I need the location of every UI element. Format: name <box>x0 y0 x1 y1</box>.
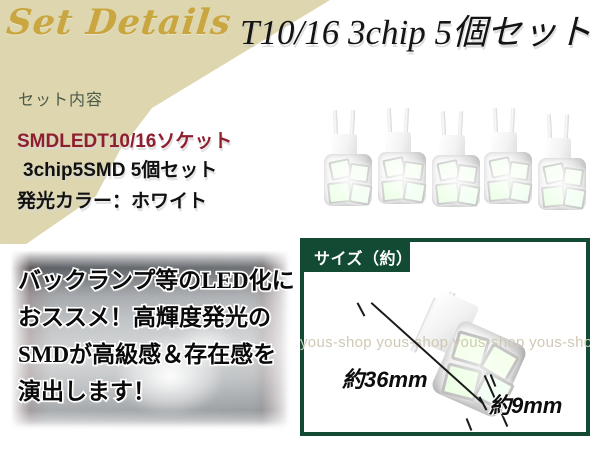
dimension-arrow-length <box>358 300 488 412</box>
smd-chip <box>508 161 530 182</box>
led-bulb <box>376 108 428 212</box>
smd-chip <box>456 164 478 185</box>
led-bulb <box>430 111 482 215</box>
size-box-label-tab: サイズ（約） <box>304 242 410 272</box>
promo-line: 演出します！ <box>18 373 290 410</box>
page-title: T10/16 3chip 5個セット <box>240 4 592 55</box>
product-detail-image: Set Details T10/16 3chip 5個セット セット内容 SMD… <box>0 0 600 450</box>
spec-color-line: 発光カラー：ホワイト <box>17 186 207 213</box>
spec-set-line: 3chip5SMD 5個セット <box>23 155 217 182</box>
set-details-script-logo: Set Details <box>3 2 248 54</box>
smd-chip <box>348 182 372 205</box>
smd-chip <box>508 180 532 203</box>
spec-heading: セット内容 <box>18 86 103 110</box>
promo-text-block: バックランプ等のLED化に おススメ！高輝度発光の SMDが高級感＆存在感を 演… <box>18 262 290 410</box>
led-bulb <box>482 108 534 212</box>
smd-chip <box>402 180 426 203</box>
arrow-tick <box>357 302 366 316</box>
smd-chip <box>402 161 424 182</box>
spec-socket-line: SMDLEDT10/16ソケット <box>17 126 232 153</box>
dimension-label-width: 約9mm <box>489 388 562 420</box>
promo-line: SMDが高級感＆存在感を <box>18 336 290 373</box>
led-bulb <box>322 110 374 214</box>
led-bulb-row-photo <box>322 108 590 218</box>
promo-line: おススメ！高輝度発光の <box>18 299 290 336</box>
promo-line: バックランプ等のLED化に <box>18 262 290 299</box>
led-bulb <box>536 114 588 218</box>
smd-chip <box>562 186 586 209</box>
smd-chip <box>456 183 480 206</box>
dimension-label-length: 約36mm <box>342 362 428 394</box>
smd-chip <box>348 163 370 184</box>
smd-chip <box>562 167 584 188</box>
